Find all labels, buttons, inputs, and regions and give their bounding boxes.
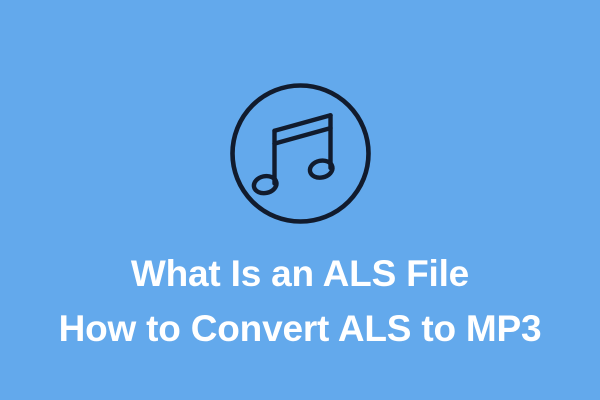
- headline-block: What Is an ALS File How to Convert ALS t…: [0, 246, 600, 356]
- promo-banner: What Is an ALS File How to Convert ALS t…: [0, 0, 600, 400]
- headline-line-2: How to Convert ALS to MP3: [59, 301, 542, 356]
- icon-container: [0, 83, 600, 224]
- music-note-circle-icon: [230, 83, 371, 224]
- headline-line-1: What Is an ALS File: [131, 246, 469, 301]
